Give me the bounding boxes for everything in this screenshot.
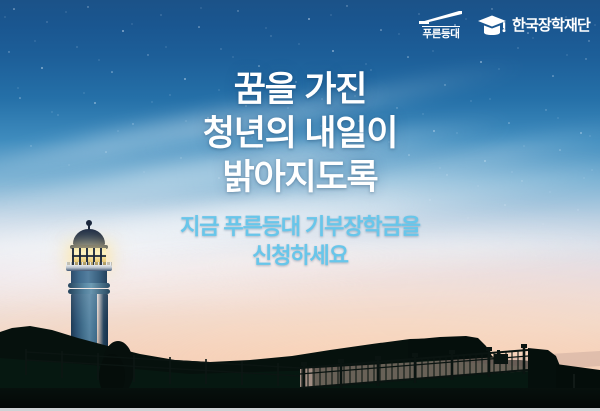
subline-line-2: 신청하세요 (0, 241, 600, 270)
logo-pureundeungdae[interactable]: 푸른등대 (419, 10, 463, 39)
logo-kosaf[interactable]: 한국장학재단 (477, 14, 590, 36)
promo-banner: 푸른등대 한국장학재단 꿈을 가진 청년의 내일이 밝아지도록 지금 푸른등대 … (0, 0, 600, 411)
headline-line-2: 청년의 내일이 (0, 112, 600, 156)
copy-block: 꿈을 가진 청년의 내일이 밝아지도록 지금 푸른등대 기부장학금을 신청하세요 (0, 68, 600, 270)
headline-line-3: 밝아지도록 (0, 156, 600, 200)
logo-group: 푸른등대 한국장학재단 (419, 10, 590, 39)
foreground-ground (0, 388, 600, 408)
logo-pureundeungdae-label: 푸른등대 (422, 26, 459, 39)
subline-line-1: 지금 푸른등대 기부장학금을 (0, 212, 600, 241)
headline-line-1: 꿈을 가진 (0, 68, 600, 112)
logo-kosaf-label: 한국장학재단 (512, 14, 590, 35)
graduation-cap-icon (477, 14, 507, 36)
lighthouse-beam-icon (419, 10, 463, 24)
